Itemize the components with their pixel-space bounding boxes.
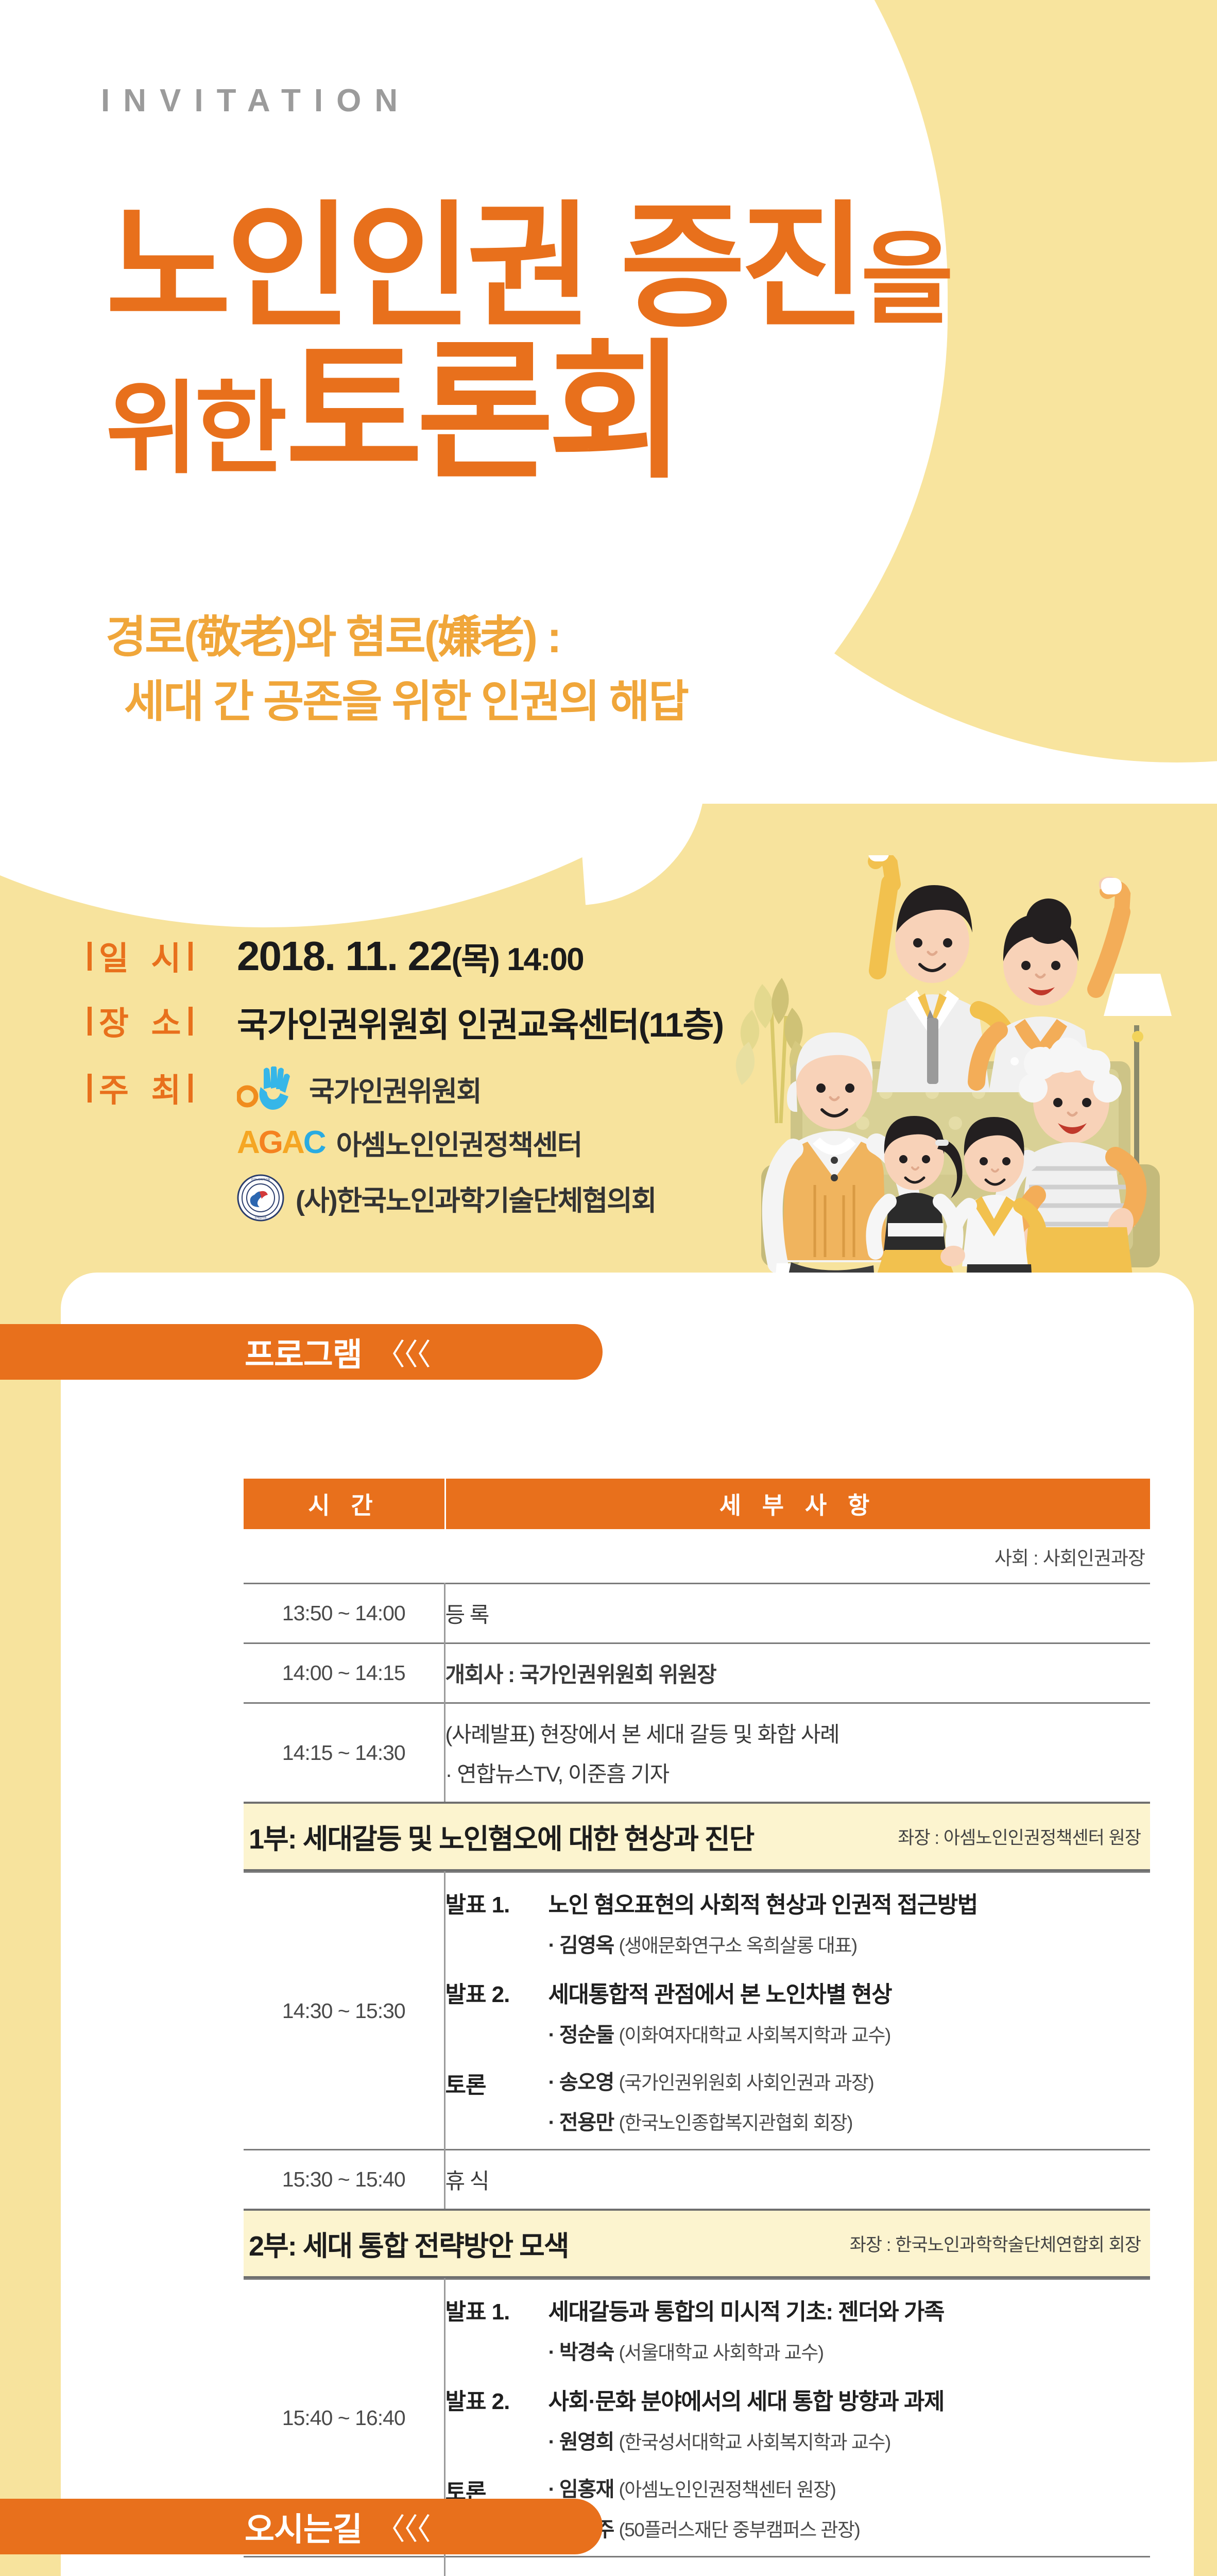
row-time: 14:15 ~ 14:30	[244, 1703, 444, 1802]
session-header-cell: 1부: 세대갈등 및 노인혐오에 대한 현상과 진단 좌장 : 아셈노인인권정책…	[244, 1802, 1150, 1872]
discussion-block: 토론 · 송오영 (국가인권위원회 사회인권과 과장) · 전용만 (한국노인종…	[445, 2065, 1151, 2136]
info-row-place: 장 소 국가인권위원회 인권교육센터(11층)	[88, 997, 731, 1047]
discussant-list: · 임홍재 (아셈노인인권정책센터 원장) · 고선주 (50플러스재단 중부캠…	[548, 2472, 1151, 2543]
family-illustration	[685, 855, 1205, 1309]
row-time: 16:40 ~ 17:00	[244, 2557, 444, 2576]
row-detail: 발표 1. 노인 혐오표현의 사회적 현상과 인권적 접근방법 · 김영옥 (생…	[444, 1872, 1150, 2150]
chevron-left-triple-icon: 〈〈〈	[375, 2505, 429, 2548]
host-name: 아셈노인인권정책센터	[336, 1122, 582, 1163]
program-table-header: 시 간 세 부 사 항	[244, 1479, 1150, 1529]
svg-text:단체협의회: 단체협의회	[254, 1216, 266, 1219]
host-item: AGAC 아셈노인인권정책센터	[237, 1122, 656, 1163]
host-label: 주 최	[99, 1064, 187, 1111]
date-time: 14:00	[499, 942, 584, 977]
subtitle: 경로(敬老)와 혐로(嫌老) : 세대 간 공존을 위한 인권의 해답	[106, 605, 688, 734]
discussant-list: · 송오영 (국가인권위원회 사회인권과 과장) · 전용만 (한국노인종합복지…	[548, 2065, 1151, 2136]
chevron-left-triple-icon: 〈〈〈	[375, 1330, 429, 1374]
date-label: 일 시	[99, 933, 187, 979]
block-title: 세대갈등과 통합의 미시적 기초: 젠더와 가족	[548, 2293, 944, 2326]
speaker-name: · 원영희	[548, 2431, 614, 2453]
session-header-row: 1부: 세대갈등 및 노인혐오에 대한 현상과 진단 좌장 : 아셈노인인권정책…	[244, 1802, 1150, 1872]
row-time: 15:30 ~ 15:40	[244, 2150, 444, 2209]
row-detail: 휴 식	[444, 2150, 1150, 2209]
korea-gerontology-seal-icon: 한국노인과학기술 단체협의회	[237, 1174, 284, 1222]
speaker-affiliation: (한국노인종합복지관협회 회장)	[619, 2112, 852, 2133]
block-key: 토론	[445, 2065, 548, 2099]
label-bar-right-icon	[188, 942, 193, 971]
program-table: 13:50 ~ 14:00 등 록 14:00 ~ 14:15 개회사 : 국가…	[244, 1583, 1150, 2576]
title-line1-suffix: 을	[861, 223, 949, 336]
speaker-name: · 임홍재	[548, 2478, 614, 2501]
presentation-block: 발표 2. 사회·문화 분야에서의 세대 통합 방향과 과제 · 원영희 (한국…	[445, 2383, 1151, 2455]
moderator-note: 사회 : 사회인권과장	[244, 1529, 1150, 1583]
place-value: 국가인권위원회 인권교육센터(11층)	[237, 997, 723, 1047]
session-title: 1부: 세대갈등 및 노인혐오에 대한 현상과 진단	[249, 1816, 753, 1857]
row-detail: 등 록	[444, 1584, 1150, 1643]
col-header-detail: 세 부 사 항	[446, 1479, 1150, 1529]
block-title: 세대통합적 관점에서 본 노인차별 현상	[548, 1976, 892, 2009]
info-row-date: 일 시 2018. 11. 22(목) 14:00	[88, 933, 731, 980]
date-value: 2018. 11. 22(목) 14:00	[237, 933, 584, 980]
session-chair: 좌장 : 아셈노인인권정책센터 원장	[898, 1823, 1141, 1850]
speaker-name: · 박경숙	[548, 2341, 614, 2364]
label-bar-left-icon	[88, 942, 92, 971]
speaker-name: · 전용만	[548, 2111, 614, 2134]
title-line2-main: 위한	[106, 372, 283, 485]
agac-wordmark-icon: AGAC	[237, 1124, 325, 1161]
table-row: 14:15 ~ 14:30 (사례발표) 현장에서 본 세대 갈등 및 화합 사…	[244, 1703, 1150, 1802]
col-header-time: 시 간	[244, 1479, 444, 1529]
subtitle-line-1: 경로(敬老)와 혐로(嫌老) :	[106, 605, 688, 670]
block-key: 발표 1.	[445, 1886, 548, 1919]
speaker-affiliation: (생애문화연구소 옥희살롱 대표)	[619, 1935, 856, 1956]
row-time: 14:30 ~ 15:30	[244, 1872, 444, 2150]
table-row: 14:00 ~ 14:15 개회사 : 국가인권위원회 위원장	[244, 1643, 1150, 1703]
host-name: 국가인권위원회	[309, 1069, 481, 1109]
speaker-line: · 송오영 (국가인권위원회 사회인권과 과장)	[548, 2065, 1151, 2095]
speaker-line: · 정순둘 (이화여자대학교 사회복지학과 교수)	[548, 2018, 1151, 2048]
speaker-line: · 임홍재 (아셈노인인권정책센터 원장)	[548, 2472, 1151, 2502]
block-title: 사회·문화 분야에서의 세대 통합 방향과 과제	[548, 2383, 944, 2416]
label-bar-left-icon	[88, 1074, 92, 1103]
svg-text:한국노인과학기술: 한국노인과학기술	[251, 1178, 270, 1181]
speaker-affiliation: (아셈노인인권정책센터 원장)	[619, 2479, 835, 2500]
headline: 노인인권 증진을 위한 토론회	[93, 201, 1071, 485]
speaker-affiliation: (서울대학교 사회학과 교수)	[619, 2342, 823, 2363]
row-time: 14:00 ~ 14:15	[244, 1643, 444, 1703]
row-detail: 종합토론 및 질의응답	[444, 2557, 1150, 2576]
speaker-affiliation: (한국성서대학교 사회복지학과 교수)	[619, 2432, 890, 2453]
invitation-kicker: INVITATION	[101, 82, 411, 119]
directions-ribbon-label: 오시는길	[245, 2503, 362, 2550]
date-ymd: 2018. 11. 22	[237, 933, 451, 979]
label-bar-left-icon	[88, 1007, 92, 1036]
program-table-body: 13:50 ~ 14:00 등 록 14:00 ~ 14:15 개회사 : 국가…	[244, 1584, 1150, 2576]
info-row-host: 주 최 국가인권위원회 AGAC 아	[88, 1064, 731, 1222]
row-time: 13:50 ~ 14:00	[244, 1584, 444, 1643]
host-label-wrap: 주 최	[88, 1064, 237, 1111]
host-item: 한국노인과학기술 단체협의회 (사)한국노인과학기술단체협의회	[237, 1174, 656, 1222]
subtitle-line-2: 세대 간 공존을 위한 인권의 해답	[124, 670, 688, 734]
date-label-wrap: 일 시	[88, 933, 237, 979]
row-detail: (사례발표) 현장에서 본 세대 갈등 및 화합 사례 · 연합뉴스TV, 이준…	[444, 1703, 1150, 1802]
label-bar-right-icon	[188, 1074, 193, 1103]
block-title: 노인 혐오표현의 사회적 현상과 인권적 접근방법	[548, 1886, 978, 1919]
host-list: 국가인권위원회 AGAC 아셈노인인권정책센터 한국노인과학기술	[237, 1064, 656, 1222]
session-banner: 1부: 세대갈등 및 노인혐오에 대한 현상과 진단 좌장 : 아셈노인인권정책…	[244, 1802, 1150, 1871]
speaker-line: · 김영옥 (생애문화연구소 옥희살롱 대표)	[548, 1928, 1151, 1958]
speaker-name: · 송오영	[548, 2071, 614, 2094]
presentation-block: 발표 1. 세대갈등과 통합의 미시적 기초: 젠더와 가족 · 박경숙 (서울…	[445, 2293, 1151, 2365]
speaker-line: · 고선주 (50플러스재단 중부캠퍼스 관장)	[548, 2513, 1151, 2543]
row-detail: 개회사 : 국가인권위원회 위원장	[444, 1643, 1150, 1703]
host-name: (사)한국노인과학기술단체협의회	[296, 1178, 656, 1218]
table-row: 14:30 ~ 15:30 발표 1. 노인 혐오표현의 사회적 현상과 인권적…	[244, 1872, 1150, 2150]
speaker-line: · 전용만 (한국노인종합복지관협회 회장)	[548, 2106, 1151, 2136]
title-line2-emph: 토론회	[285, 329, 679, 496]
program-table-wrap: 시 간 세 부 사 항 사회 : 사회인권과장 13:50 ~ 14:00 등 …	[244, 1479, 1150, 2576]
presentation-head: 발표 1. 세대갈등과 통합의 미시적 기초: 젠더와 가족	[445, 2293, 1151, 2326]
presentation-block: 발표 1. 노인 혐오표현의 사회적 현상과 인권적 접근방법 · 김영옥 (생…	[445, 1886, 1151, 1958]
session-banner: 2부: 세대 통합 전략방안 모색 좌장 : 한국노인과학학술단체연합회 회장	[244, 2209, 1150, 2278]
block-key: 발표 2.	[445, 2383, 548, 2416]
place-label: 장 소	[99, 997, 187, 1044]
speaker-line: · 원영희 (한국성서대학교 사회복지학과 교수)	[548, 2425, 1151, 2455]
session-header-row: 2부: 세대 통합 전략방안 모색 좌장 : 한국노인과학학술단체연합회 회장	[244, 2209, 1150, 2279]
block-key: 발표 1.	[445, 2293, 548, 2326]
program-ribbon-label: 프로그램	[245, 1329, 362, 1376]
directions-section-ribbon: 오시는길 〈〈〈	[0, 2499, 603, 2554]
event-info: 일 시 2018. 11. 22(목) 14:00 장 소 국가인권위원회 인권…	[88, 933, 731, 1239]
poster-page: INVITATION 노인인권 증진을 위한 토론회 경로(敬老)와 혐로(嫌老…	[0, 0, 1217, 2576]
host-item: 국가인권위원회	[237, 1066, 656, 1111]
date-weekday: (목)	[451, 942, 499, 977]
speaker-affiliation: (국가인권위원회 사회인권과 과장)	[619, 2072, 873, 2093]
table-row: 16:40 ~ 17:00 종합토론 및 질의응답	[244, 2557, 1150, 2576]
table-row: 15:30 ~ 15:40 휴 식	[244, 2150, 1150, 2209]
presentation-block: 발표 2. 세대통합적 관점에서 본 노인차별 현상 · 정순둘 (이화여자대학…	[445, 1976, 1151, 2048]
nhrc-hand-icon	[237, 1066, 298, 1111]
presentation-head: 발표 1. 노인 혐오표현의 사회적 현상과 인권적 접근방법	[445, 1886, 1151, 1919]
case-speaker: · 연합뉴스TV, 이준흠 기자	[445, 1757, 1151, 1788]
label-bar-right-icon	[188, 1007, 193, 1036]
program-section-ribbon: 프로그램 〈〈〈	[0, 1324, 603, 1380]
person-man-standing	[868, 855, 1015, 1092]
speaker-affiliation: (50플러스재단 중부캠퍼스 관장)	[619, 2519, 860, 2540]
session-chair: 좌장 : 한국노인과학학술단체연합회 회장	[850, 2230, 1141, 2257]
session-title: 2부: 세대 통합 전략방안 모색	[249, 2223, 569, 2264]
speaker-name: · 김영옥	[548, 1934, 614, 1957]
speaker-line: · 박경숙 (서울대학교 사회학과 교수)	[548, 2335, 1151, 2365]
presentation-head: 발표 2. 세대통합적 관점에서 본 노인차별 현상	[445, 1976, 1151, 2009]
case-title: (사례발표) 현장에서 본 세대 갈등 및 화합 사례	[445, 1717, 1151, 1749]
title-line1-main: 노인인권 증진	[106, 191, 861, 344]
content-card: 프로그램 〈〈〈 시 간 세 부 사 항 사회 : 사회인권과장 13:50 ~…	[61, 1273, 1194, 2576]
session-header-cell: 2부: 세대 통합 전략방안 모색 좌장 : 한국노인과학학술단체연합회 회장	[244, 2209, 1150, 2279]
place-label-wrap: 장 소	[88, 997, 237, 1044]
presentation-head: 발표 2. 사회·문화 분야에서의 세대 통합 방향과 과제	[445, 2383, 1151, 2416]
speaker-affiliation: (이화여자대학교 사회복지학과 교수)	[619, 2025, 890, 2046]
speaker-name: · 정순둘	[548, 2024, 614, 2046]
block-key: 발표 2.	[445, 1976, 548, 2009]
table-row: 13:50 ~ 14:00 등 록	[244, 1584, 1150, 1643]
